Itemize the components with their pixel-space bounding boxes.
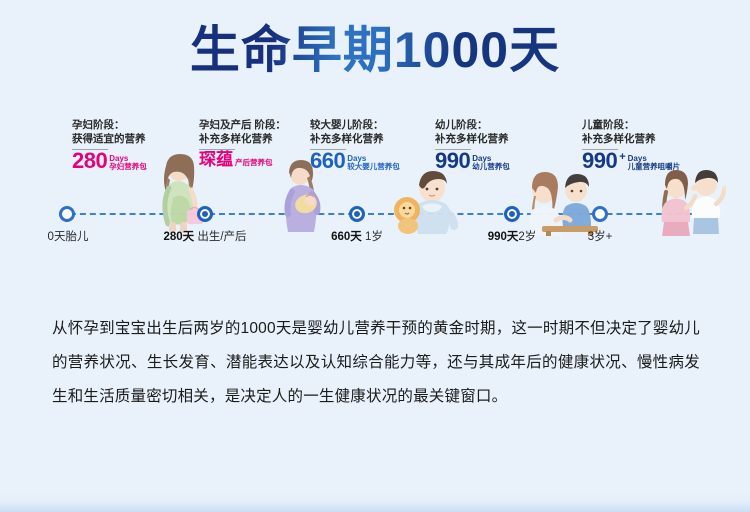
timeline-label-280: 280天 出生/产后 — [163, 228, 246, 244]
stage-2-line1: 孕妇及产后 阶段： — [199, 118, 286, 132]
stage-3-number: 660 — [310, 151, 345, 172]
timeline-label-3y: 3岁+ — [588, 228, 613, 244]
timeline-label-990: 990天2岁 — [488, 228, 537, 244]
description-paragraph: 从怀孕到宝宝出生后两岁的1000天是婴幼儿营养干预的黄金时期，这一时期不但决定了… — [52, 312, 700, 414]
stage-2-line2: 补充多样化营养 — [199, 132, 286, 146]
illustration-baby-with-lion — [392, 170, 464, 236]
timeline-label-660: 660天 1岁 — [331, 228, 383, 244]
stage-1-badge: 280 Days 孕妇营养包 — [72, 151, 147, 172]
page-background: 生命早期1000天 孕妇阶段： 获得适宜的营养 280 Days 孕妇营养包 — [0, 0, 750, 512]
timeline-node-990[interactable] — [504, 206, 520, 222]
timeline-stage-1[interactable]: 孕妇阶段： 获得适宜的营养 280 Days 孕妇营养包 — [72, 118, 147, 172]
timeline-node-3y[interactable] — [592, 206, 608, 222]
stage-1-line2: 获得适宜的营养 — [72, 132, 147, 146]
stage-5-line1: 儿童阶段： — [582, 118, 680, 132]
timeline-node-660[interactable] — [349, 206, 365, 222]
stage-3-line2: 补充多样化营养 — [310, 132, 400, 146]
stage-2-package: 产后营养包 — [235, 159, 273, 167]
stage-5-sup: + — [619, 152, 625, 163]
page-title: 生命早期1000天 — [190, 22, 560, 80]
page-title-wrap: 生命早期1000天 — [0, 22, 750, 80]
stage-4-badge: 990 Days 幼儿营养包 — [435, 151, 510, 172]
stage-3-line1: 较大婴儿阶段： — [310, 118, 400, 132]
stage-1-number: 280 — [72, 151, 107, 172]
timeline-stage-3[interactable]: 较大婴儿阶段： 补充多样化营养 660 Days 较大婴儿营养包 — [310, 118, 400, 172]
timeline-stage-4[interactable]: 幼儿阶段： 补充多样化营养 990 Days 幼儿营养包 — [435, 118, 510, 172]
stage-5-number: 990 — [582, 151, 617, 172]
stage-1-package: 孕妇营养包 — [109, 163, 147, 171]
illustration-two-children — [656, 168, 726, 238]
illustration-mother-kissing-toddler — [522, 170, 600, 236]
stage-4-package: 幼儿营养包 — [472, 163, 510, 171]
timeline-node-0[interactable] — [59, 206, 75, 222]
stage-4-line1: 幼儿阶段： — [435, 118, 510, 132]
timeline-label-0: 0天胎儿 — [48, 228, 89, 244]
stage-3-badge: 660 Days 较大婴儿营养包 — [310, 151, 400, 172]
stage-4-number: 990 — [435, 151, 470, 172]
timeline-node-280[interactable] — [197, 206, 213, 222]
timeline-stage-5[interactable]: 儿童阶段： 补充多样化营养 990 + Days 儿童营养咀嚼片 — [582, 118, 680, 172]
stage-1-line1: 孕妇阶段： — [72, 118, 147, 132]
stage-4-line2: 补充多样化营养 — [435, 132, 510, 146]
stage-2-brand: 琛蕴 — [199, 151, 233, 168]
stage-5-line2: 补充多样化营养 — [582, 132, 680, 146]
timeline: 孕妇阶段： 获得适宜的营养 280 Days 孕妇营养包 — [0, 108, 750, 248]
